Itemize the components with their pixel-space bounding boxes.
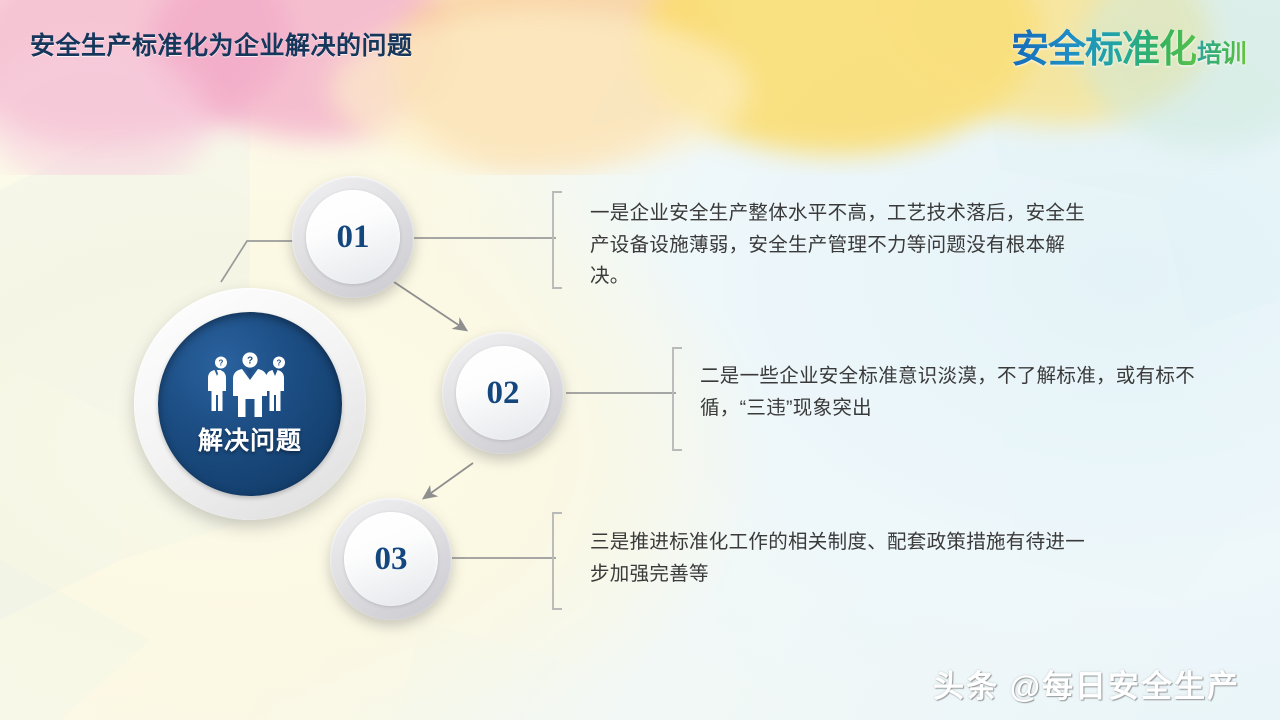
svg-text:?: ? bbox=[219, 359, 224, 368]
brand-logo: 安全标准化 培训 bbox=[1011, 18, 1246, 73]
step-node-02[interactable]: 02 bbox=[442, 332, 564, 454]
center-hub[interactable]: ? ? ? 解决问题 bbox=[134, 288, 366, 520]
step-node-01-inner: 01 bbox=[306, 190, 400, 284]
center-hub-label: 解决问题 bbox=[198, 421, 302, 457]
center-hub-inner: ? ? ? 解决问题 bbox=[158, 312, 342, 496]
step-node-03-inner: 03 bbox=[344, 512, 438, 606]
step-node-01[interactable]: 01 bbox=[292, 176, 414, 298]
brand-main-text: 安全标准化 bbox=[1011, 18, 1196, 73]
step-node-02-inner: 02 bbox=[456, 346, 550, 440]
step-text-02: 二是一些企业安全标准意识淡漠，不了解标准，或有标不循，“三违”现象突出 bbox=[700, 361, 1216, 424]
svg-text:?: ? bbox=[277, 359, 282, 368]
three-people-question-icon: ? ? ? bbox=[204, 351, 296, 417]
step-text-03: 三是推进标准化工作的相关制度、配套政策措施有待进一步加强完善等 bbox=[590, 527, 1102, 590]
step-number-01: 01 bbox=[337, 219, 370, 256]
step-number-03: 03 bbox=[375, 541, 408, 578]
step-number-02: 02 bbox=[487, 375, 520, 412]
slide-canvas: 安全生产标准化为企业解决的问题 安全标准化 培训 bbox=[0, 0, 1280, 720]
brand-sub-text: 培训 bbox=[1197, 34, 1246, 70]
page-title: 安全生产标准化为企业解决的问题 bbox=[30, 26, 413, 62]
step-node-03[interactable]: 03 bbox=[330, 498, 452, 620]
step-text-01: 一是企业安全生产整体水平不高，工艺技术落后，安全生产设备设施薄弱，安全生产管理不… bbox=[590, 198, 1102, 293]
watermark: 头条 @每日安全生产 bbox=[933, 661, 1240, 706]
svg-text:?: ? bbox=[247, 356, 253, 367]
